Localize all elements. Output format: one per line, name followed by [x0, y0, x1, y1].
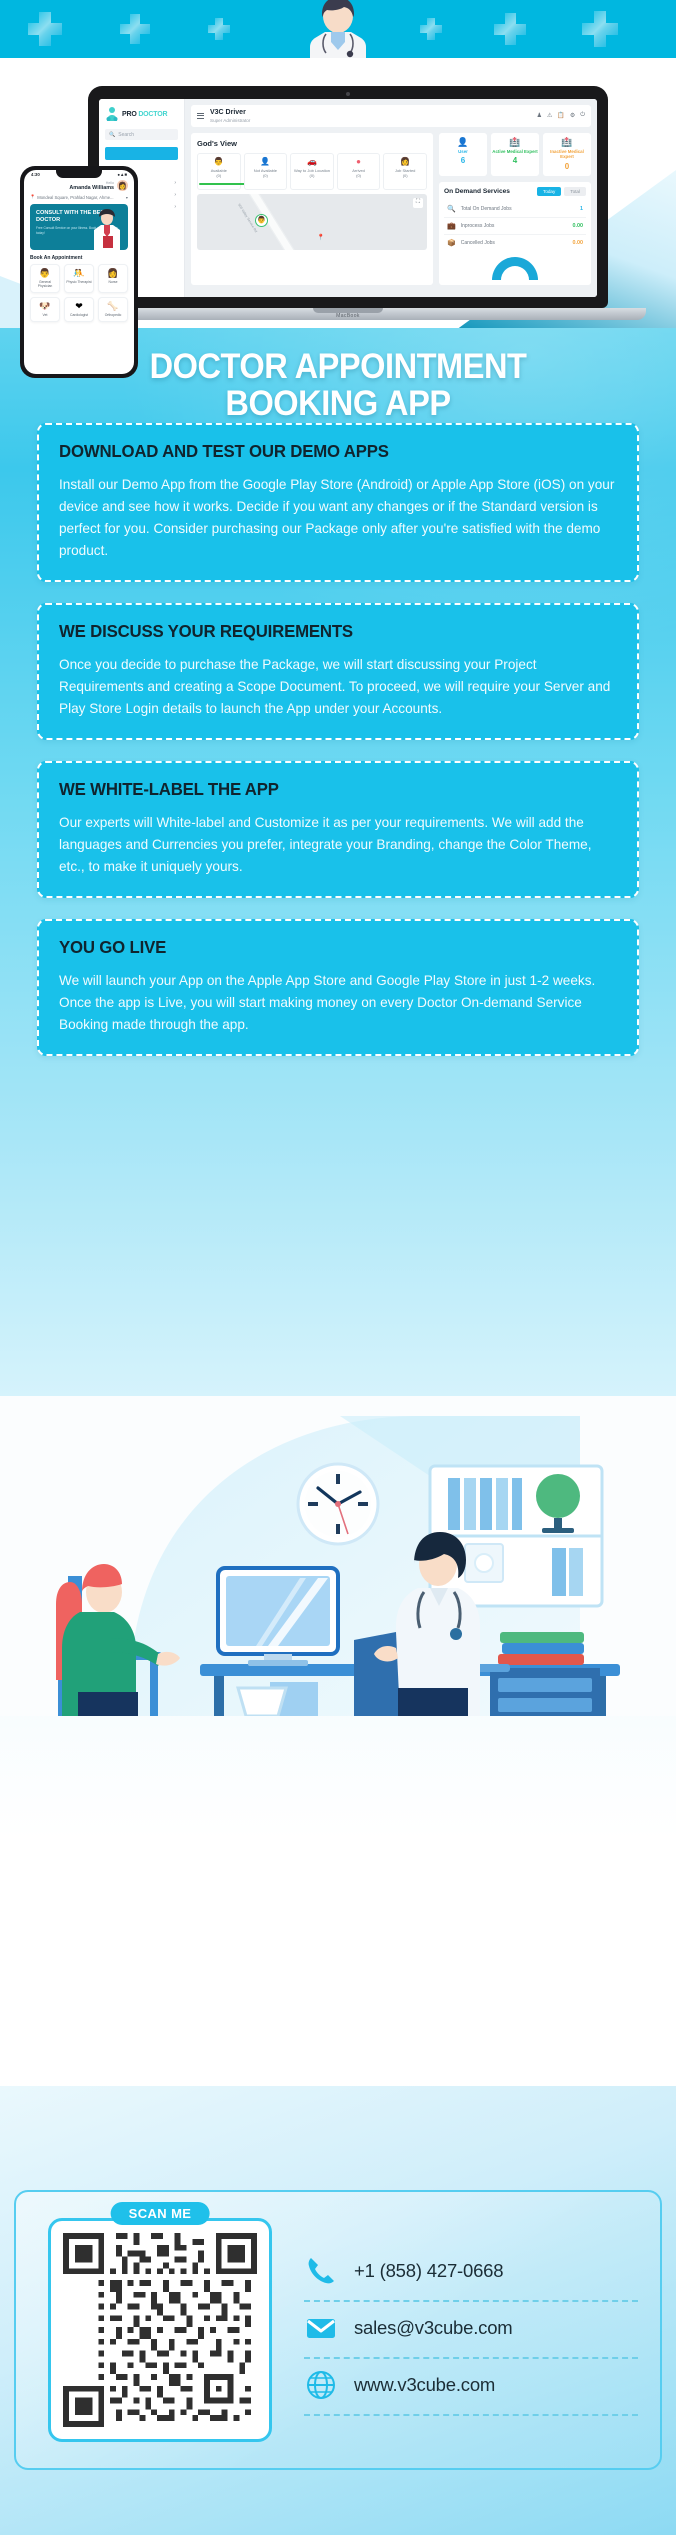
orthopedic-icon: 🦴: [100, 302, 126, 311]
step-card-go-live: You Go Live We will launch your App on t…: [37, 919, 639, 1056]
promo-banner[interactable]: CONSULT WITH THE BEST DOCTOR Free Consul…: [30, 204, 128, 250]
brand-logo: PRO DOCTOR: [105, 106, 178, 122]
filing-cabinet-icon: [490, 1668, 600, 1716]
promo-doctor-illustration: [90, 208, 124, 250]
monitor-icon: [218, 1568, 338, 1666]
cardiologist-icon: ❤: [66, 302, 92, 311]
admin-dashboard: PRO DOCTOR 🔍 Search Monitoring: [99, 99, 597, 297]
stat-value: 6: [440, 156, 486, 165]
not-available-icon: 👤: [246, 158, 286, 166]
dashboard-topbar: V3C Driver Super Administrator ♟ ⚠ 📋 ⚙ ⏻: [191, 105, 591, 127]
category-tile-general-physician[interactable]: 👨 General Physician: [30, 264, 60, 293]
email-icon: [304, 2311, 338, 2345]
active-expert-icon: 🏥: [492, 138, 538, 147]
location-selector[interactable]: 📍 Mondeal Square, Prahlad Nagar, Ahme...…: [30, 194, 128, 200]
physio-therapist-icon: 🤼: [66, 269, 92, 278]
medical-cross-icon: [208, 18, 230, 40]
doctor-avatar-icon: [301, 0, 375, 66]
status-bar: [199, 183, 245, 185]
on-demand-services-panel: On Demand Services Today Total 🔍 To: [439, 182, 591, 285]
status-count: (0): [356, 173, 361, 178]
job-label: Total On Demand Jobs: [461, 206, 512, 212]
infographic-page: PRO DOCTOR 🔍 Search Monitoring: [0, 0, 676, 2535]
globe-icon: [304, 2368, 338, 2402]
notes-icon[interactable]: 📋: [557, 112, 564, 119]
step-heading: Download and Test Our Demo Apps: [59, 441, 595, 462]
gods-status-card[interactable]: 👤 Not Available(0): [244, 153, 288, 190]
gods-view-panel: God's View 👨 Available(0) 👤: [191, 133, 433, 285]
step-card-discuss-requirements: We Discuss Your Requirements Once you de…: [37, 603, 639, 740]
clipboard-icon: [354, 1632, 400, 1716]
toggle-today[interactable]: Today: [537, 187, 561, 196]
dashboard-right-column: 👤 User 6 🏥 Active Medical Expert 4: [439, 133, 591, 285]
stat-label: Inactive Medical Expert: [544, 149, 590, 160]
category-label: Cardiologist: [66, 313, 92, 317]
step-card-download-demo: Download and Test Our Demo Apps Install …: [37, 423, 639, 582]
phone-number: +1 (858) 427-0668: [354, 2260, 503, 2282]
medical-cross-icon: [120, 14, 150, 44]
step-card-white-label: We White-Label the App Our experts will …: [37, 761, 639, 898]
stat-card-inactive-expert: 🏥 Inactive Medical Expert 0: [543, 133, 591, 176]
pro-doctor-logo-icon: [105, 106, 119, 122]
job-label: Inprocess Jobs: [461, 223, 495, 229]
category-label: General Physician: [32, 280, 58, 288]
top-banner: [0, 0, 676, 58]
general-physician-icon: 👨: [32, 269, 58, 278]
status-count: (0): [310, 173, 315, 178]
map-doctor-marker[interactable]: 👨: [255, 214, 268, 227]
status-time: 4:30: [31, 172, 40, 177]
jobs-donut-chart: [492, 257, 538, 280]
category-label: Nurse: [100, 280, 126, 284]
status-label: Not Available: [254, 168, 277, 173]
page-title-line2: Booking App: [225, 384, 450, 423]
medical-cross-icon: [420, 18, 442, 40]
available-icon: 👨: [199, 158, 239, 166]
status-icons: ●▲■: [117, 172, 127, 177]
step-body: Install our Demo App from the Google Pla…: [59, 474, 617, 562]
job-value: 0.00: [573, 223, 584, 229]
status-label: Available: [211, 168, 227, 173]
book-stack-icon: [498, 1632, 584, 1665]
hero-mockup-section: PRO DOCTOR 🔍 Search Monitoring: [0, 58, 676, 328]
contact-list: +1 (858) 427-0668 sales@v3cube.com: [304, 2245, 642, 2416]
bookshelf-icon: [430, 1466, 602, 1606]
way-to-job-icon: 🚗: [292, 158, 332, 166]
stat-card-active-expert: 🏥 Active Medical Expert 4: [491, 133, 539, 176]
medical-cross-icon: [494, 13, 526, 45]
toggle-total[interactable]: Total: [564, 187, 586, 196]
qr-code[interactable]: [63, 2231, 257, 2429]
mobile-app-screen: 4:30 ●▲■ Hello Amanda Williams 👩 📍 Monde…: [24, 170, 134, 374]
stat-label: User: [440, 149, 486, 155]
category-label: Physio Therapist: [66, 280, 92, 284]
on-demand-title: On Demand Services: [444, 188, 510, 195]
map-expand-icon[interactable]: ⛶: [413, 198, 423, 208]
laptop-brand-label: MacBook: [336, 313, 360, 319]
website-url: www.v3cube.com: [354, 2374, 495, 2396]
gods-status-card[interactable]: 👨 Available(0): [197, 153, 241, 190]
inprocess-icon: 💼: [447, 222, 456, 230]
qr-frame: [48, 2218, 272, 2442]
status-count: (0): [216, 173, 221, 178]
status-label: Way to Job Location: [294, 168, 330, 173]
job-row: 💼 Inprocess Jobs 0.00: [444, 218, 586, 235]
step-body: Once you decide to purchase the Package,…: [59, 654, 617, 720]
dashboard-title: V3C Driver: [210, 109, 250, 118]
category-label: Orthopedic: [100, 313, 126, 317]
user-icon: 👤: [440, 138, 486, 147]
chevron-down-icon: ›: [174, 204, 176, 210]
content-band: Doctor Appointment Booking App Download …: [0, 328, 676, 2086]
job-value: 0.00: [573, 240, 584, 246]
gods-status-card[interactable]: 🚗 Way to Job Location(0): [290, 153, 334, 190]
footer-contact-section: SCAN ME: [0, 2086, 676, 2535]
medical-cross-icon: [28, 12, 62, 46]
email-address: sales@v3cube.com: [354, 2317, 513, 2339]
job-row: 📦 Cancelled Jobs 0.00: [444, 235, 586, 251]
category-tile-nurse[interactable]: 👩 Nurse: [98, 264, 128, 293]
phone-mockup: 4:30 ●▲■ Hello Amanda Williams 👩 📍 Monde…: [20, 166, 138, 378]
power-icon[interactable]: ⏻: [580, 112, 585, 119]
location-pin-icon: 📍: [30, 194, 35, 200]
alert-icon[interactable]: ⚠: [547, 112, 552, 119]
globe-icon: [536, 1474, 580, 1518]
section-title: Book An Appointment: [30, 255, 128, 261]
map-pin-icon: 📍: [317, 234, 324, 241]
dashboard-main: V3C Driver Super Administrator ♟ ⚠ 📋 ⚙ ⏻: [185, 99, 597, 297]
job-value: 1: [580, 206, 583, 212]
brand-name-part2: DOCTOR: [138, 111, 167, 118]
gods-status-card[interactable]: 👩 Job Started(0): [383, 153, 427, 190]
job-started-icon: 👩: [385, 158, 425, 166]
steps-list: Download and Test Our Demo Apps Install …: [37, 423, 639, 1077]
waste-bin-icon: [238, 1688, 286, 1716]
gods-status-card[interactable]: ● Arrived(0): [337, 153, 381, 190]
cancelled-icon: 📦: [447, 239, 456, 247]
dashboard-subtitle: Super Administrator: [210, 118, 250, 123]
inactive-expert-icon: 🏥: [544, 138, 590, 147]
wall-clock-icon: [298, 1464, 378, 1544]
chevron-down-icon: ›: [174, 192, 176, 198]
status-label: Job Started: [395, 168, 415, 173]
category-tile-cardiologist[interactable]: ❤ Cardiologist: [64, 297, 94, 322]
gods-view-title: God's View: [197, 139, 427, 148]
qr-section: SCAN ME: [34, 2218, 286, 2442]
page-title-line1: Doctor Appointment: [150, 347, 527, 386]
vet-icon: 🐶: [32, 302, 58, 311]
sidebar-item-active[interactable]: [105, 147, 178, 160]
profile-icon[interactable]: ♟: [537, 112, 542, 119]
gods-view-map[interactable]: 500 Valley Service Rd 👨 📍 ⛶: [197, 194, 427, 250]
appointment-category-grid: 👨 General Physician 🤼 Physio Therapist 👩…: [30, 264, 128, 322]
contact-card: SCAN ME: [14, 2190, 662, 2470]
stat-value: 4: [492, 156, 538, 165]
search-placeholder: Search: [118, 132, 134, 138]
stat-label: Active Medical Expert: [492, 149, 538, 155]
hamburger-menu-icon[interactable]: [197, 112, 204, 121]
consultation-illustration: [0, 1396, 676, 1716]
nurse-icon: 👩: [100, 269, 126, 278]
chevron-down-icon: ▾: [126, 195, 128, 200]
category-label: Vet: [32, 313, 58, 317]
scan-me-badge: SCAN ME: [111, 2202, 210, 2225]
search-job-icon: 🔍: [447, 205, 456, 213]
contact-row-website[interactable]: www.v3cube.com: [304, 2359, 638, 2416]
step-body: We will launch your App on the Apple App…: [59, 970, 617, 1036]
laptop-base: MacBook: [50, 308, 646, 320]
job-row: 🔍 Total On Demand Jobs 1: [444, 201, 586, 218]
step-body: Our experts will White-label and Customi…: [59, 812, 617, 878]
category-tile-vet[interactable]: 🐶 Vet: [30, 297, 60, 322]
sidebar-search-input[interactable]: 🔍 Search: [105, 129, 178, 140]
user-name: Amanda Williams: [69, 185, 114, 191]
category-tile-physio-therapist[interactable]: 🤼 Physio Therapist: [64, 264, 94, 293]
status-count: (0): [403, 173, 408, 178]
status-label: Arrived: [352, 168, 365, 173]
phone-icon: [304, 2254, 338, 2288]
contact-row-phone[interactable]: +1 (858) 427-0668: [304, 2245, 638, 2302]
gear-icon[interactable]: ⚙: [570, 112, 575, 119]
chevron-down-icon: ›: [174, 180, 176, 186]
laptop-camera: [346, 92, 350, 96]
phone-notch: [56, 170, 102, 178]
status-count: (0): [263, 173, 268, 178]
category-tile-orthopedic[interactable]: 🦴 Orthopedic: [98, 297, 128, 322]
avatar[interactable]: 👩: [117, 180, 128, 191]
job-label: Cancelled Jobs: [461, 240, 495, 246]
step-heading: We Discuss Your Requirements: [59, 621, 595, 642]
contact-row-email[interactable]: sales@v3cube.com: [304, 2302, 638, 2359]
location-text: Mondeal Square, Prahlad Nagar, Ahme...: [37, 195, 113, 200]
arrived-icon: ●: [339, 158, 379, 166]
laptop-mockup: PRO DOCTOR 🔍 Search Monitoring: [88, 86, 608, 320]
brand-name-part1: PRO: [122, 111, 137, 118]
stat-card-user: 👤 User 6: [439, 133, 487, 176]
search-icon: 🔍: [109, 132, 115, 138]
step-heading: You Go Live: [59, 937, 595, 958]
step-heading: We White-Label the App: [59, 779, 595, 800]
medical-cross-icon: [582, 11, 618, 47]
stat-value: 0: [544, 162, 590, 171]
